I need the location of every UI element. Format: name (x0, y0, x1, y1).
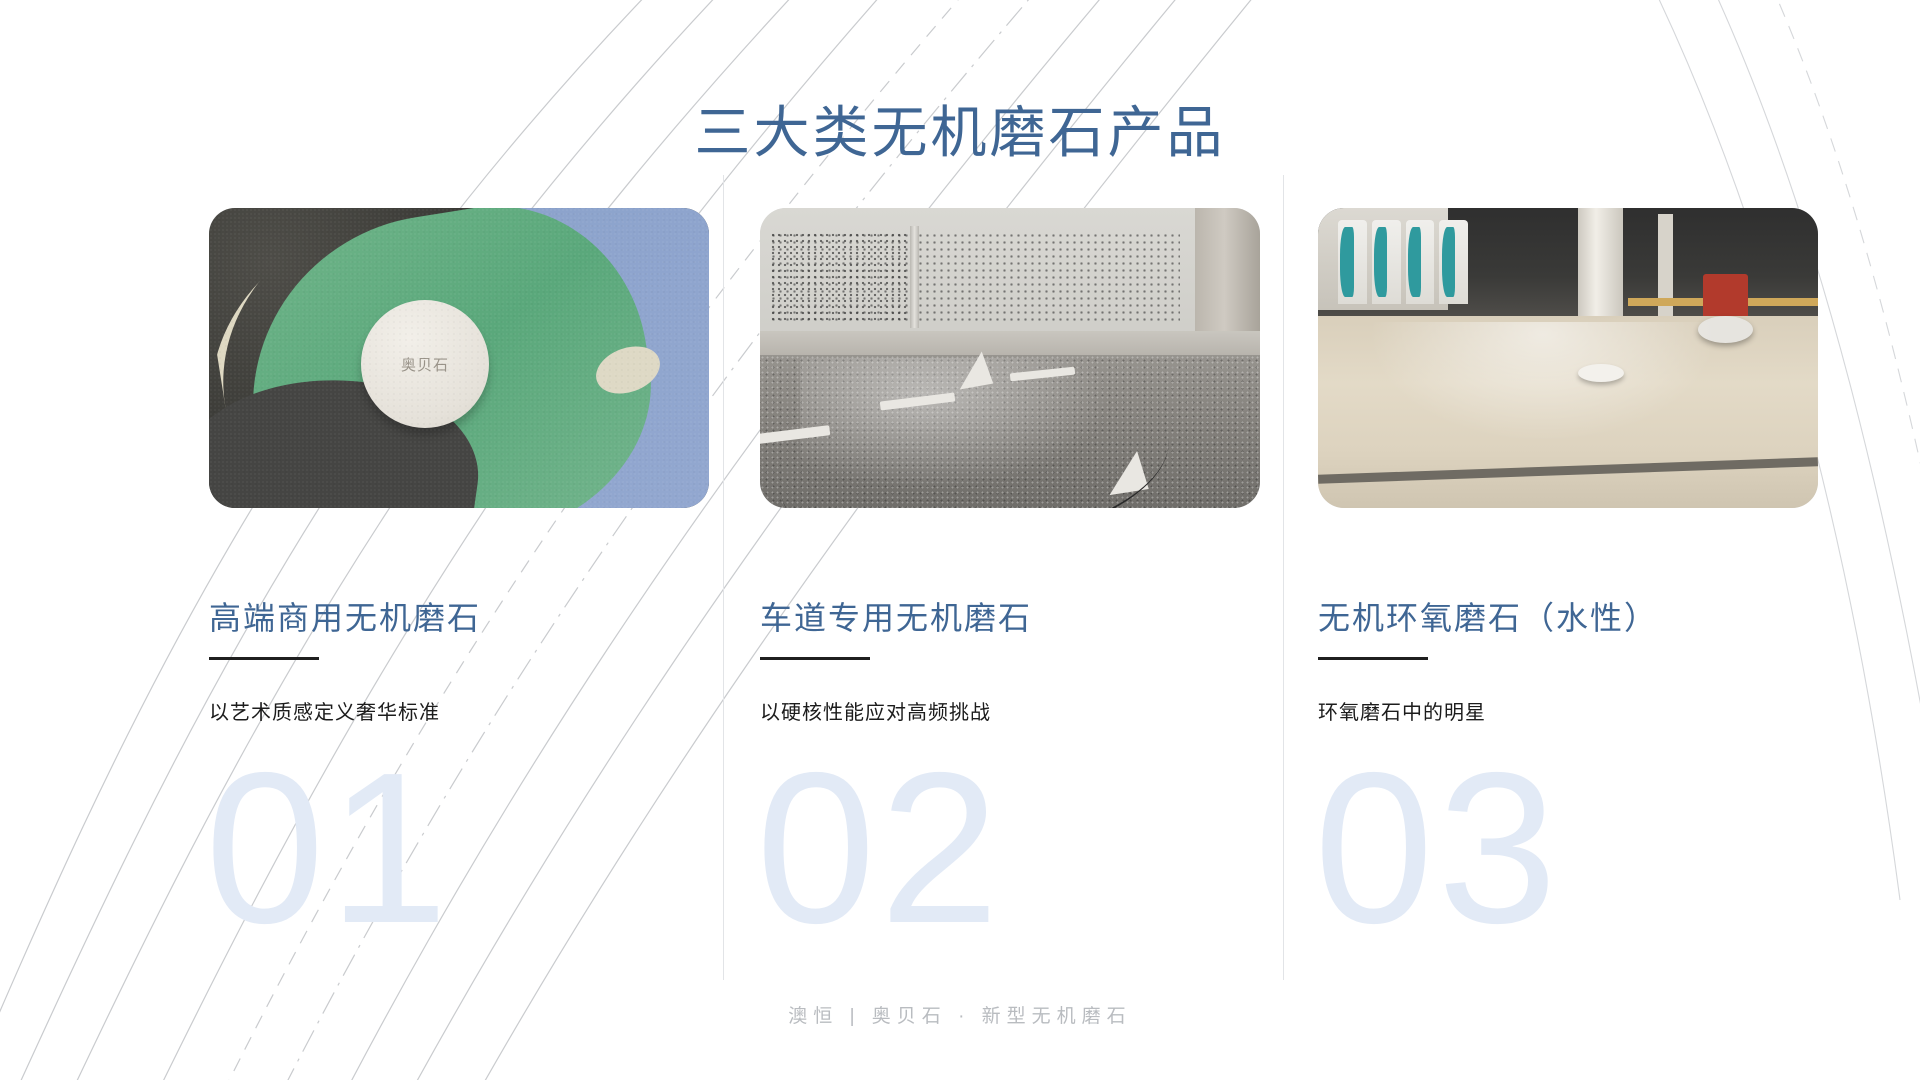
product-title-rule-3 (1318, 657, 1428, 660)
product-title-1: 高端商用无机磨石 (209, 593, 709, 639)
product-title-rule-2 (760, 657, 870, 660)
product-subtitle-2: 以硬核性能应对高频挑战 (760, 696, 1260, 725)
product-subtitle-3: 环氧磨石中的明星 (1318, 696, 1818, 725)
product-photo-1: 奥贝石 (209, 208, 709, 508)
product-title-3: 无机环氧磨石（水性） (1318, 593, 1818, 639)
product-title-rule-1 (209, 657, 319, 660)
product-title-2: 车道专用无机磨石 (760, 593, 1260, 639)
product-card-1[interactable]: 奥贝石 高端商用无机磨石 以艺术质感定义奢华标准 (209, 208, 709, 725)
product-card-group: 奥贝石 高端商用无机磨石 以艺术质感定义奢华标准 (0, 0, 1920, 1080)
product-subtitle-1: 以艺术质感定义奢华标准 (209, 696, 709, 725)
product-card-3[interactable]: 无机环氧磨石（水性） 环氧磨石中的明星 (1318, 208, 1818, 725)
product-photo-3 (1318, 208, 1818, 508)
slide-root: 三大类无机磨石产品 01 02 03 奥贝石 (0, 0, 1920, 1080)
product-photo-2 (760, 208, 1260, 508)
product-card-2[interactable]: 车道专用无机磨石 以硬核性能应对高频挑战 (760, 208, 1260, 725)
footer-brand-line: 澳恒 | 奥贝石 · 新型无机磨石 (0, 1001, 1920, 1028)
